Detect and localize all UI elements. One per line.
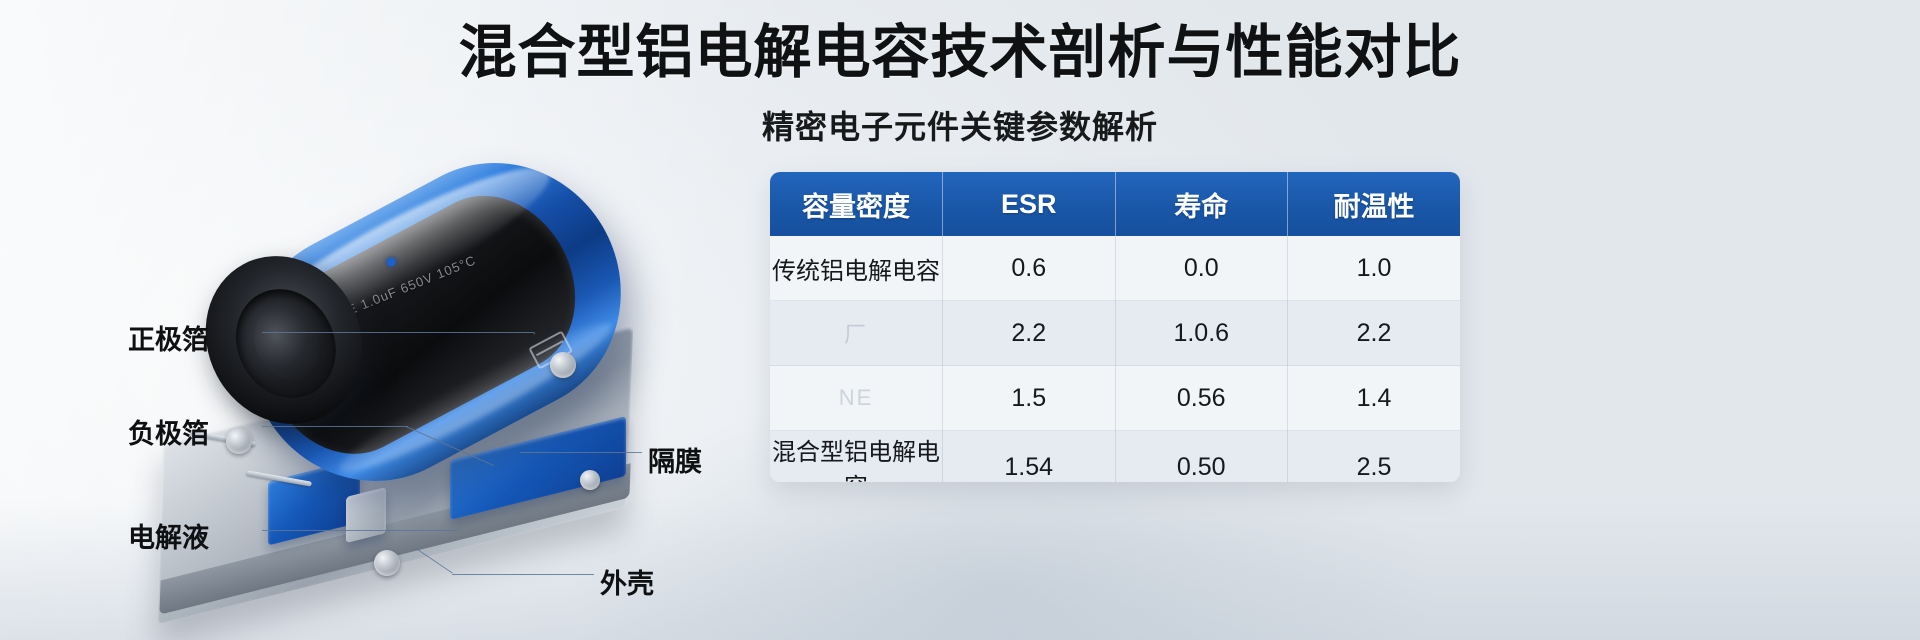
leader-line-case [452, 574, 594, 575]
table-row: 传统铝电解电容 0.6 0.0 1.0 [770, 236, 1460, 301]
table-row: NE 1.5 0.56 1.4 [770, 366, 1460, 431]
row-label: 传统铝电解电容 [770, 236, 943, 301]
screw-icon [550, 352, 576, 378]
cell-temperature: 2.2 [1288, 301, 1461, 366]
comparison-table: 容量密度 ESR 寿命 耐温性 传统铝电解电容 0.6 0.0 1.0 厂 2.… [770, 172, 1460, 482]
cell-temperature: 2.5 [1288, 431, 1461, 483]
column-header-lifetime: 寿命 [1115, 172, 1288, 236]
callout-separator: 隔膜 [648, 440, 702, 479]
table-header-row: 容量密度 ESR 寿命 耐温性 [770, 172, 1460, 236]
callout-negative-foil: 负极箔 [128, 412, 209, 451]
leader-line-positive-foil-hook [534, 332, 536, 334]
capacitor-render: CDE 1.0uF 650V 105°C [150, 170, 710, 600]
page-title: 混合型铝电解电容技术剖析与性能对比 [0, 22, 1920, 83]
callout-electrolyte: 电解液 [128, 516, 209, 555]
screw-icon [226, 428, 252, 454]
cell-esr: 1.54 [943, 431, 1116, 483]
cell-temperature: 1.0 [1288, 236, 1461, 301]
row-label: NE [770, 366, 943, 431]
callout-positive-foil: 正极箔 [128, 318, 209, 357]
leader-line-electrolyte [262, 530, 458, 531]
column-header-capacity-density: 容量密度 [770, 172, 943, 236]
cell-lifetime: 0.0 [1115, 236, 1288, 301]
screw-icon [580, 470, 600, 490]
capacitor-diagram: CDE 1.0uF 650V 105°C 正极箔 负极箔 电解液 [0, 150, 880, 640]
page-subtitle: 精密电子元件关键参数解析 [0, 102, 1920, 148]
cell-esr: 2.2 [943, 301, 1116, 366]
row-label: 厂 [770, 301, 943, 366]
cell-lifetime: 0.50 [1115, 431, 1288, 483]
column-header-temperature: 耐温性 [1288, 172, 1461, 236]
table-row: 混合型铝电解电容 1.54 0.50 2.5 [770, 431, 1460, 483]
cell-esr: 0.6 [943, 236, 1116, 301]
infographic-canvas: 混合型铝电解电容技术剖析与性能对比 精密电子元件关键参数解析 CDE 1.0uF… [0, 0, 1920, 640]
column-header-esr: ESR [943, 172, 1116, 236]
callout-case: 外壳 [600, 562, 654, 601]
leader-line-positive-foil [262, 332, 534, 333]
cell-esr: 1.5 [943, 366, 1116, 431]
leader-line-negative-foil [262, 426, 408, 427]
table-row: 厂 2.2 1.0.6 2.2 [770, 301, 1460, 366]
cell-lifetime: 1.0.6 [1115, 301, 1288, 366]
cell-lifetime: 0.56 [1115, 366, 1288, 431]
row-label: 混合型铝电解电容 [770, 431, 943, 483]
cell-temperature: 1.4 [1288, 366, 1461, 431]
leader-line-separator [520, 452, 642, 453]
screw-icon [374, 550, 400, 576]
